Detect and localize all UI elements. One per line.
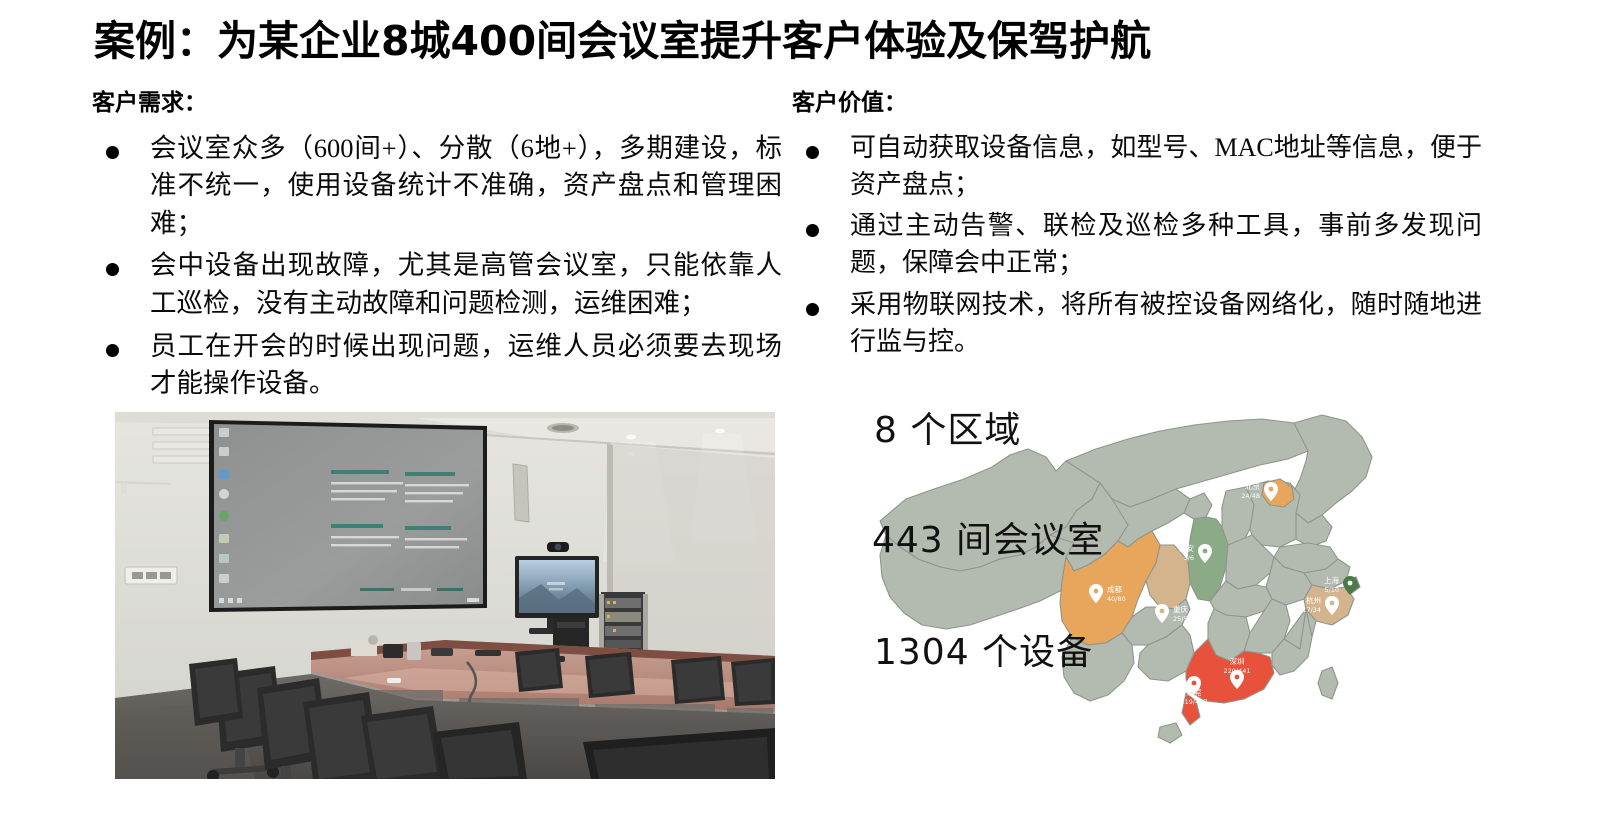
conference-room-photo bbox=[115, 412, 775, 779]
marker-label-chengdu-count: 40/80 bbox=[1107, 595, 1126, 603]
slide-root: 案例：为某企业8城400间会议室提升客户体验及保驾护航 客户需求： 会议室众多（… bbox=[0, 0, 1600, 823]
marker-label-hangzhou-city: 杭州 bbox=[1306, 595, 1321, 605]
list-item: 会中设备出现故障，尤其是高管会议室，只能依靠人工巡检，没有主动故障和问题检测，运… bbox=[92, 247, 782, 322]
marker-label-shanghai-count: 5/10 bbox=[1324, 586, 1339, 594]
marker-label-shanghai-city: 上海 bbox=[1324, 575, 1340, 585]
right-column-heading: 客户价值： bbox=[792, 90, 1482, 118]
marker-label-xian-count: 3/6 bbox=[1184, 554, 1194, 562]
right-column: 客户价值： 可自动获取设备信息，如型号、MAC地址等信息，便于资产盘点； 通过主… bbox=[792, 90, 1482, 366]
marker-label-chengdu-city: 成都 bbox=[1107, 584, 1123, 594]
marker-label-xian-city: 西安 bbox=[1179, 543, 1195, 553]
china-map-panel: 北京 24/48 西安 3/6 成都 40/80 重庆 25/52 上海 5/1… bbox=[860, 395, 1480, 795]
list-item: 员工在开会的时候出现问题，运维人员必须要去现场才能操作设备。 bbox=[92, 328, 782, 403]
marker-label-chongqing-city: 重庆 bbox=[1173, 604, 1189, 614]
customer-needs-list: 会议室众多（600间+）、分散（6地+），多期建设，标准不统一，使用设备统计不准… bbox=[92, 130, 782, 403]
marker-label-shenzhen-city: 深圳 bbox=[1230, 656, 1245, 666]
left-column-heading: 客户需求： bbox=[92, 90, 782, 118]
page-title: 案例：为某企业8城400间会议室提升客户体验及保驾护航 bbox=[94, 18, 1151, 65]
marker-label-beijing-city: 北京 bbox=[1245, 481, 1261, 491]
marker-label-dongguan-city: 东莞 bbox=[1187, 687, 1203, 697]
list-item: 可自动获取设备信息，如型号、MAC地址等信息，便于资产盘点； bbox=[792, 130, 1482, 204]
marker-label-shenzhen-count: 220/441 bbox=[1223, 667, 1250, 675]
customer-value-list: 可自动获取设备信息，如型号、MAC地址等信息，便于资产盘点； 通过主动告警、联检… bbox=[792, 130, 1482, 361]
list-item: 会议室众多（600间+）、分散（6地+），多期建设，标准不统一，使用设备统计不准… bbox=[92, 130, 782, 243]
conference-room-illustration bbox=[115, 412, 775, 779]
marker-label-dongguan-count: 119/417 bbox=[1180, 698, 1207, 706]
marker-label-hangzhou-count: 17/34 bbox=[1302, 606, 1321, 614]
china-map: 北京 24/48 西安 3/6 成都 40/80 重庆 25/52 上海 5/1… bbox=[860, 395, 1480, 795]
marker-label-beijing-count: 24/48 bbox=[1241, 492, 1260, 500]
list-item: 通过主动告警、联检及巡检多种工具，事前多发现问题，保障会中正常； bbox=[792, 208, 1482, 282]
marker-label-chongqing-count: 25/52 bbox=[1173, 615, 1192, 623]
left-column: 客户需求： 会议室众多（600间+）、分散（6地+），多期建设，标准不统一，使用… bbox=[92, 90, 782, 408]
list-item: 采用物联网技术，将所有被控设备网络化，随时随地进行监与控。 bbox=[792, 287, 1482, 361]
